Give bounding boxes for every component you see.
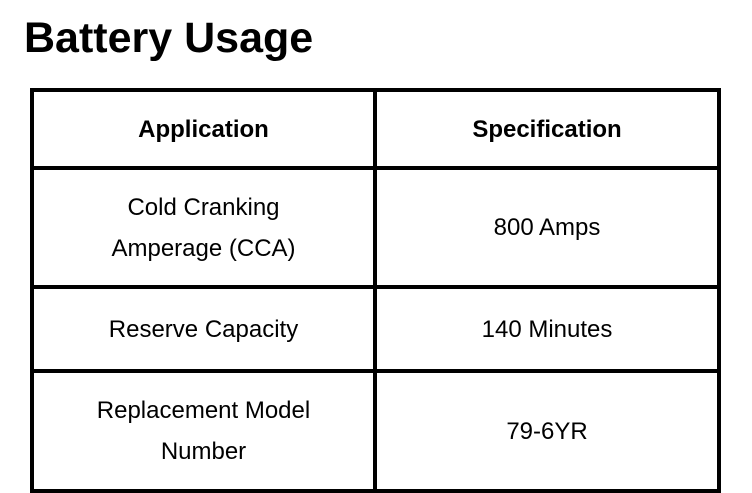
cell-application: Cold Cranking Amperage (CCA): [32, 168, 375, 287]
cell-line: Amperage (CCA): [40, 228, 367, 269]
table-body: Cold Cranking Amperage (CCA) 800 Amps Re…: [32, 168, 719, 491]
table-header: Application Specification: [32, 90, 719, 168]
cell-line: Reserve Capacity: [40, 309, 367, 350]
cell-line: Cold Cranking: [40, 187, 367, 228]
table-row: Cold Cranking Amperage (CCA) 800 Amps: [32, 168, 719, 287]
table-header-row: Application Specification: [32, 90, 719, 168]
cell-specification: 79-6YR: [375, 371, 719, 491]
table-row: Reserve Capacity 140 Minutes: [32, 287, 719, 371]
cell-specification: 800 Amps: [375, 168, 719, 287]
cell-line: Number: [40, 431, 367, 472]
column-header-specification: Specification: [375, 90, 719, 168]
document-page: Battery Usage Application Specification …: [0, 0, 752, 490]
cell-application: Reserve Capacity: [32, 287, 375, 371]
cell-specification: 140 Minutes: [375, 287, 719, 371]
battery-specification-table: Application Specification Cold Cranking …: [30, 88, 721, 493]
table-row: Replacement Model Number 79-6YR: [32, 371, 719, 491]
cell-application: Replacement Model Number: [32, 371, 375, 491]
column-header-application: Application: [32, 90, 375, 168]
page-title: Battery Usage: [24, 10, 313, 66]
cell-line: Replacement Model: [40, 390, 367, 431]
